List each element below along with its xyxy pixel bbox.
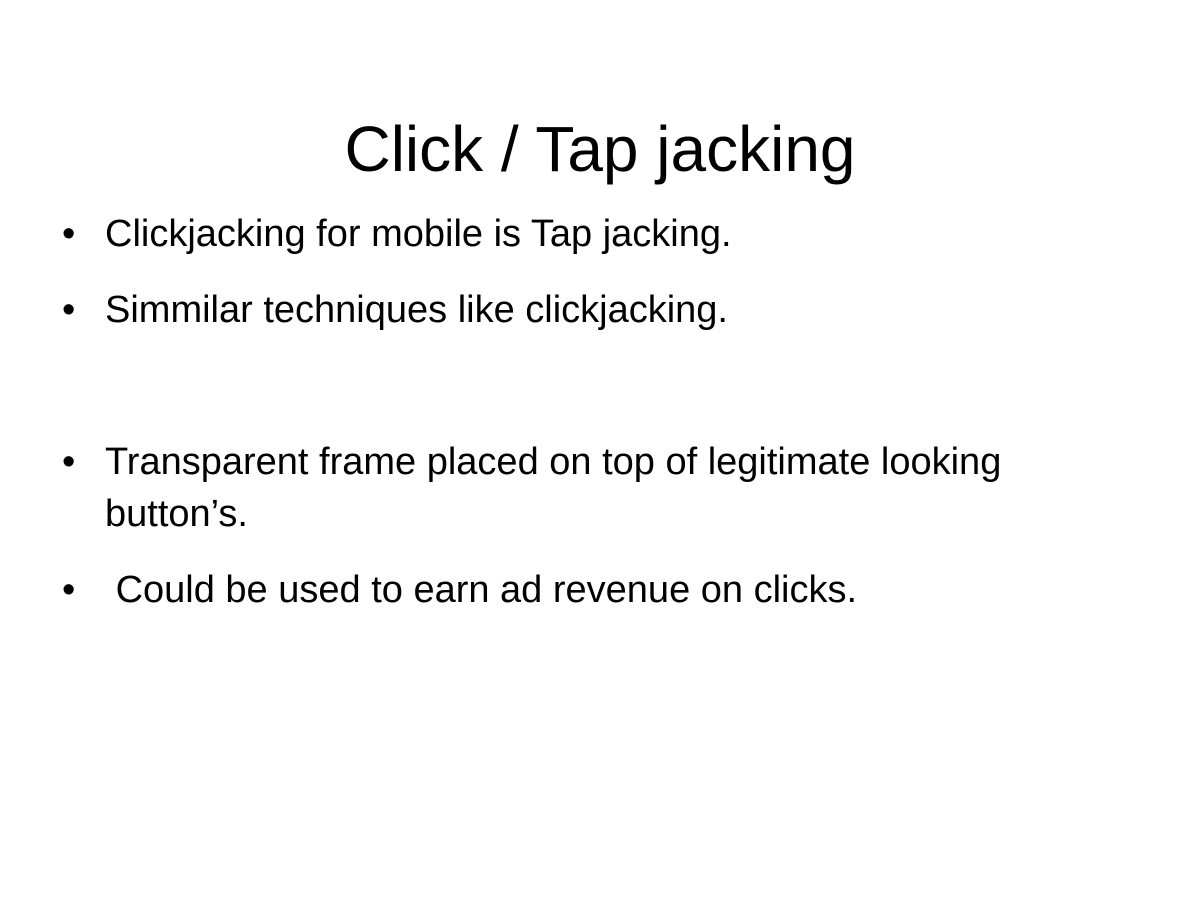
bullet-icon: • — [62, 208, 84, 260]
list-item: • Transparent frame placed on top of leg… — [56, 436, 1116, 540]
bullet-list: • Clickjacking for mobile is Tap jacking… — [56, 208, 1116, 616]
list-item: • Could be used to earn ad revenue on cl… — [56, 564, 1116, 616]
list-item-text: Simmilar techniques like clickjacking. — [105, 284, 1116, 336]
list-item-blank — [56, 360, 1116, 412]
bullet-icon: • — [62, 284, 84, 336]
bullet-icon: • — [62, 564, 84, 616]
list-item: • Clickjacking for mobile is Tap jacking… — [56, 208, 1116, 260]
list-item-text: Clickjacking for mobile is Tap jacking. — [105, 208, 1116, 260]
slide-body: • Clickjacking for mobile is Tap jacking… — [56, 208, 1116, 616]
list-item: • Simmilar techniques like clickjacking. — [56, 284, 1116, 336]
slide: Click / Tap jacking • Clickjacking for m… — [0, 0, 1200, 900]
bullet-icon: • — [62, 436, 84, 488]
page-title: Click / Tap jacking — [0, 117, 1200, 181]
list-item-text: Could be used to earn ad revenue on clic… — [105, 564, 1116, 616]
list-item-text: Transparent frame placed on top of legit… — [105, 436, 1116, 540]
